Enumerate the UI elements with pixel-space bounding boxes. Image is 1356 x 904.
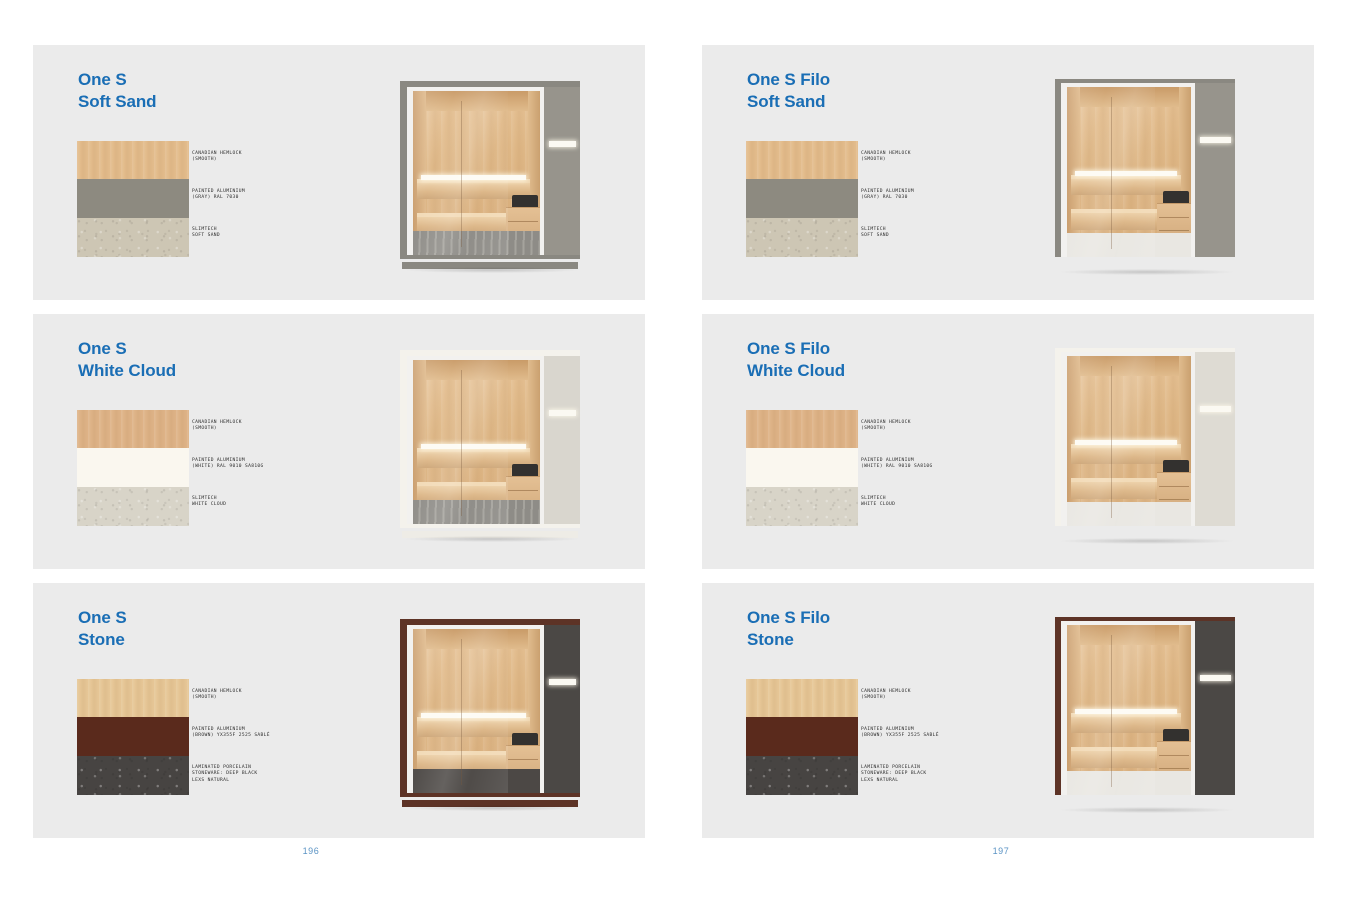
sauna-interior	[1061, 352, 1195, 526]
sauna-led-light-strip	[1075, 171, 1177, 176]
sauna-left-wall	[413, 629, 426, 771]
material-legend-item: SLIMTECH SOFT SAND	[192, 227, 220, 240]
material-legend-item: LAMINATED PORCELAIN STONEWARE: DEEP BLAC…	[192, 765, 257, 784]
material-legend-item: SLIMTECH SOFT SAND	[861, 227, 889, 240]
sauna-ceiling	[413, 629, 540, 649]
material-swatch-laminated-porcelain-deep-black	[746, 756, 858, 795]
product-title: One S Filo White Cloud	[747, 338, 845, 382]
sauna-side-cladding-panel	[544, 625, 580, 793]
product-photo	[984, 314, 1314, 569]
product-card[interactable]: One S White CloudCANADIAN HEMLOCK (SMOOT…	[33, 314, 645, 569]
material-swatch-painted-aluminium-brown	[746, 717, 858, 756]
sauna-cabin-illustration	[392, 613, 588, 809]
material-swatch-painted-aluminium-gray	[77, 179, 189, 218]
material-swatch-painted-aluminium-brown	[77, 717, 189, 756]
sauna-cabin-illustration	[392, 344, 588, 540]
sauna-side-cladding-panel	[544, 87, 580, 255]
material-swatch-stack	[77, 141, 189, 257]
sauna-left-wall	[413, 91, 426, 233]
product-title: One S Filo Stone	[747, 607, 830, 651]
sauna-side-cladding-panel	[1195, 621, 1235, 795]
product-photo	[335, 314, 645, 569]
sauna-floor	[1067, 502, 1191, 526]
product-photo	[335, 583, 645, 838]
sauna-floor	[1067, 233, 1191, 257]
product-card-list-right: One S Filo Soft SandCANADIAN HEMLOCK (SM…	[702, 45, 1314, 852]
sauna-cabin-illustration	[1047, 611, 1251, 811]
material-swatch-slimtech-soft-sand	[77, 218, 189, 257]
material-swatch-stack	[77, 679, 189, 795]
sauna-floor	[413, 500, 540, 524]
sauna-ceiling	[1067, 87, 1191, 107]
material-swatch-stack	[746, 410, 858, 526]
sauna-led-light-strip	[1075, 440, 1177, 445]
material-swatch-painted-aluminium-gray	[746, 179, 858, 218]
material-swatch-painted-aluminium-white	[746, 448, 858, 487]
sauna-ground-shadow	[406, 536, 578, 542]
material-legend: CANADIAN HEMLOCK (SMOOTH)PAINTED ALUMINI…	[192, 410, 342, 526]
material-swatch-canadian-hemlock	[77, 410, 189, 448]
product-title: One S Stone	[78, 607, 127, 651]
material-legend-item: SLIMTECH WHITE CLOUD	[861, 496, 895, 509]
sauna-ceiling	[1067, 625, 1191, 645]
material-legend-item: CANADIAN HEMLOCK (SMOOTH)	[192, 420, 242, 433]
sauna-left-wall	[413, 360, 426, 502]
catalog-page-left: One S Soft SandCANADIAN HEMLOCK (SMOOTH)…	[0, 0, 678, 904]
material-legend: CANADIAN HEMLOCK (SMOOTH)PAINTED ALUMINI…	[192, 679, 342, 795]
material-swatch-canadian-hemlock	[77, 679, 189, 717]
sauna-side-light-strip	[549, 410, 576, 416]
sauna-side-cladding-panel	[1195, 352, 1235, 526]
material-swatch-stack	[746, 679, 858, 795]
sauna-ceiling	[413, 360, 540, 380]
sauna-side-cladding-panel	[544, 356, 580, 524]
page-number-right: 197	[662, 846, 1340, 856]
product-card[interactable]: One S Filo White CloudCANADIAN HEMLOCK (…	[702, 314, 1314, 569]
sauna-ground-shadow	[1061, 807, 1233, 813]
material-swatch-slimtech-white-cloud	[77, 487, 189, 526]
sauna-side-light-strip	[549, 679, 576, 685]
material-legend-item: PAINTED ALUMINIUM (GRAY) RAL 7030	[861, 189, 914, 202]
material-legend-item: CANADIAN HEMLOCK (SMOOTH)	[861, 420, 911, 433]
sauna-cabin-illustration	[1047, 342, 1251, 542]
sauna-ceiling	[1067, 356, 1191, 376]
sauna-floor	[413, 769, 540, 793]
material-legend-item: CANADIAN HEMLOCK (SMOOTH)	[192, 151, 242, 164]
sauna-interior	[407, 87, 544, 255]
product-photo	[335, 45, 645, 300]
sauna-led-light-strip	[421, 175, 526, 180]
material-legend-item: LAMINATED PORCELAIN STONEWARE: DEEP BLAC…	[861, 765, 926, 784]
material-legend-item: CANADIAN HEMLOCK (SMOOTH)	[861, 151, 911, 164]
material-swatch-canadian-hemlock	[746, 679, 858, 717]
sauna-led-light-strip	[421, 444, 526, 449]
sauna-floor	[1067, 771, 1191, 795]
material-swatch-slimtech-white-cloud	[746, 487, 858, 526]
material-swatch-stack	[77, 410, 189, 526]
material-legend-item: PAINTED ALUMINIUM (WHITE) RAL 9010 SA810…	[192, 458, 264, 471]
product-title: One S White Cloud	[78, 338, 176, 382]
product-card[interactable]: One S StoneCANADIAN HEMLOCK (SMOOTH)PAIN…	[33, 583, 645, 838]
material-swatch-slimtech-soft-sand	[746, 218, 858, 257]
sauna-ceiling	[413, 91, 540, 111]
material-swatch-canadian-hemlock	[77, 141, 189, 179]
product-photo	[984, 583, 1314, 838]
sauna-cabin-illustration	[392, 75, 588, 271]
product-card[interactable]: One S Filo Soft SandCANADIAN HEMLOCK (SM…	[702, 45, 1314, 300]
sauna-ground-shadow	[1061, 538, 1233, 544]
sauna-ground-shadow	[406, 267, 578, 273]
material-legend-item: SLIMTECH WHITE CLOUD	[192, 496, 226, 509]
material-legend-item: CANADIAN HEMLOCK (SMOOTH)	[192, 689, 242, 702]
sauna-outer-frame	[1055, 79, 1235, 257]
material-legend: CANADIAN HEMLOCK (SMOOTH)PAINTED ALUMINI…	[192, 141, 342, 257]
sauna-side-light-strip	[1200, 406, 1231, 412]
material-swatch-canadian-hemlock	[746, 410, 858, 448]
product-photo	[984, 45, 1314, 300]
product-title: One S Filo Soft Sand	[747, 69, 830, 113]
material-swatch-laminated-porcelain-deep-black	[77, 756, 189, 795]
sauna-side-cladding-panel	[1195, 83, 1235, 257]
sauna-interior	[1061, 621, 1195, 795]
material-legend-item: PAINTED ALUMINIUM (BROWN) YX355F 2525 SA…	[861, 727, 939, 740]
sauna-led-light-strip	[1075, 709, 1177, 714]
sauna-side-light-strip	[549, 141, 576, 147]
sauna-outer-frame	[1055, 617, 1235, 795]
sauna-floor	[413, 231, 540, 255]
product-card-list-left: One S Soft SandCANADIAN HEMLOCK (SMOOTH)…	[33, 45, 645, 852]
sauna-outer-frame	[400, 619, 580, 797]
product-title: One S Soft Sand	[78, 69, 156, 113]
catalog-spread: One S Soft SandCANADIAN HEMLOCK (SMOOTH)…	[0, 0, 1356, 904]
product-card[interactable]: One S Soft SandCANADIAN HEMLOCK (SMOOTH)…	[33, 45, 645, 300]
sauna-interior	[407, 356, 544, 524]
material-legend-item: PAINTED ALUMINIUM (WHITE) RAL 9010 SA810…	[861, 458, 933, 471]
material-swatch-stack	[746, 141, 858, 257]
material-swatch-canadian-hemlock	[746, 141, 858, 179]
sauna-cabin-illustration	[1047, 73, 1251, 273]
sauna-ground-shadow	[406, 805, 578, 811]
sauna-side-light-strip	[1200, 137, 1231, 143]
page-number-left: 196	[0, 846, 650, 856]
sauna-interior	[1061, 83, 1195, 257]
sauna-outer-frame	[1055, 348, 1235, 526]
material-swatch-painted-aluminium-white	[77, 448, 189, 487]
material-legend-item: CANADIAN HEMLOCK (SMOOTH)	[861, 689, 911, 702]
sauna-outer-frame	[400, 81, 580, 259]
sauna-led-light-strip	[421, 713, 526, 718]
sauna-ground-shadow	[1061, 269, 1233, 275]
sauna-side-light-strip	[1200, 675, 1231, 681]
material-legend-item: PAINTED ALUMINIUM (GRAY) RAL 7030	[192, 189, 245, 202]
sauna-interior	[407, 625, 544, 793]
product-card[interactable]: One S Filo StoneCANADIAN HEMLOCK (SMOOTH…	[702, 583, 1314, 838]
material-legend-item: PAINTED ALUMINIUM (BROWN) YX355F 2525 SA…	[192, 727, 270, 740]
sauna-outer-frame	[400, 350, 580, 528]
catalog-page-right: One S Filo Soft SandCANADIAN HEMLOCK (SM…	[678, 0, 1356, 904]
